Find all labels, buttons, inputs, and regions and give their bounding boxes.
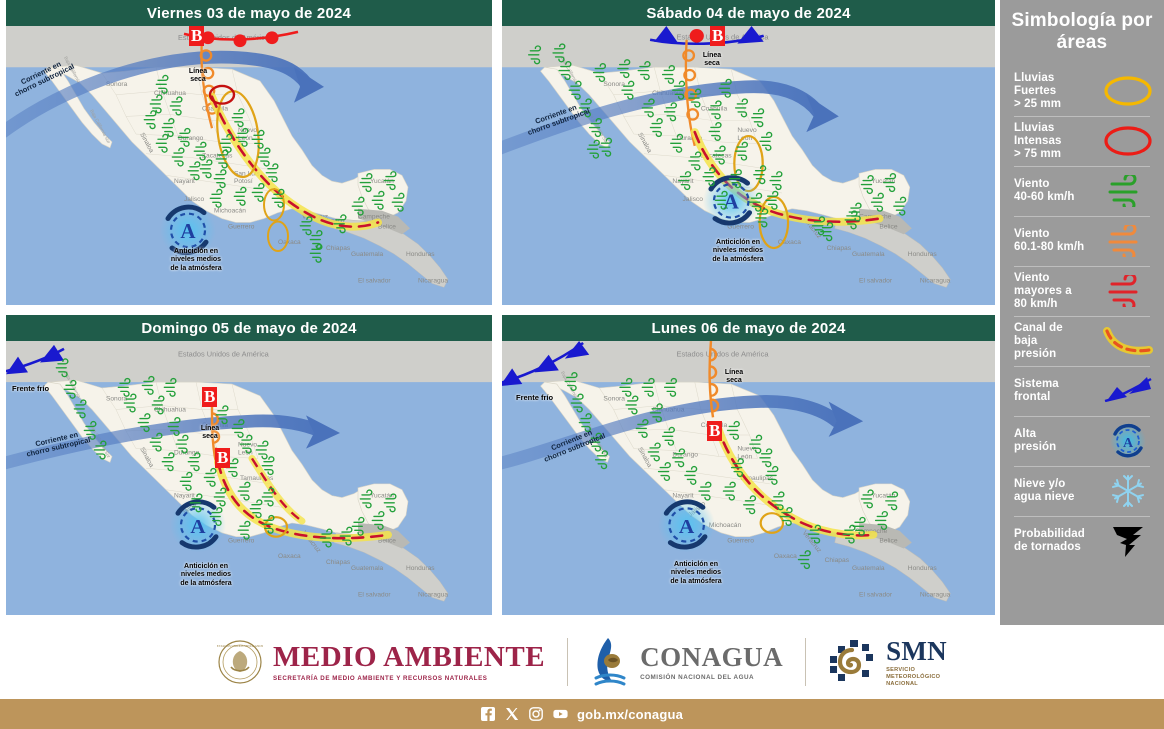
- panel-title-sabado: Sábado 04 de mayo de 2024: [502, 0, 995, 26]
- mexico-coat-of-arms-icon: ESTADOS UNIDOS MEXICANOS: [217, 639, 263, 685]
- logo-conagua: CONAGUA COMISIÓN NACIONAL DEL AGUA: [590, 636, 783, 688]
- svg-text:Honduras: Honduras: [908, 565, 938, 572]
- snowflake-icon: [1102, 471, 1154, 511]
- conagua-eagle-icon: [590, 636, 630, 688]
- smn-spiral-icon: [828, 638, 876, 686]
- medio-ambiente-name: MEDIO AMBIENTE: [273, 642, 545, 672]
- svg-text:Guerrero: Guerrero: [228, 538, 255, 545]
- mexico-map-svg: Estados Unidos de América Guatemala Hond…: [6, 26, 492, 305]
- svg-text:El salvador: El salvador: [859, 591, 893, 598]
- legend-item-lluvias-intensas[interactable]: Lluvias Intensas > 75 mm: [1000, 116, 1164, 166]
- svg-text:Guatemala: Guatemala: [852, 565, 885, 572]
- legend-sidebar: Simbología por áreas Lluvias Fuertes > 2…: [1000, 0, 1164, 625]
- svg-text:Sonora: Sonora: [603, 396, 625, 403]
- map-canvas-lunes[interactable]: Estados Unidos de América GuatemalaHondu…: [502, 341, 995, 615]
- legend-item-viento-60-80[interactable]: Viento 60.1-80 km/h: [1000, 216, 1164, 266]
- label-nayarit: Nayarit: [174, 178, 195, 185]
- panel-title-lunes: Lunes 06 de mayo de 2024: [502, 315, 995, 341]
- legend-label: Lluvias Fuertes > 25 mm: [1014, 72, 1061, 111]
- mexico-map-svg: Estados Unidos de América GuatemalaHondu…: [502, 341, 995, 615]
- svg-text:Sonora: Sonora: [106, 396, 128, 403]
- legend-label: Viento 60.1-80 km/h: [1014, 228, 1084, 254]
- forecast-panel-lunes[interactable]: Lunes 06 de mayo de 2024: [497, 315, 1000, 625]
- svg-text:El salvador: El salvador: [859, 277, 893, 284]
- frontal-system-icon: [1102, 371, 1154, 411]
- forecast-panel-sabado[interactable]: Sábado 04 de mayo de 2024: [497, 0, 1000, 315]
- facebook-icon[interactable]: [481, 707, 496, 722]
- label-oaxaca: Oaxaca: [278, 239, 301, 246]
- svg-text:Oaxaca: Oaxaca: [278, 553, 301, 560]
- label-jalisco: Jalisco: [184, 196, 205, 203]
- low-pressure-marker-B-north: B: [202, 387, 217, 407]
- smn-name: SMN: [886, 637, 947, 665]
- logo-medio-ambiente: ESTADOS UNIDOS MEXICANOS MEDIO AMBIENTE …: [217, 639, 545, 685]
- svg-text:A: A: [190, 515, 205, 538]
- forecast-map-grid: Viernes 03 de mayo de 2024: [0, 0, 1000, 625]
- map-canvas-viernes[interactable]: Estados Unidos de América Guatemala Hond…: [6, 26, 492, 305]
- svg-text:Belice: Belice: [879, 223, 898, 230]
- label-slp2: Potosí: [234, 178, 253, 185]
- legend-label: Viento 40-60 km/h: [1014, 178, 1074, 204]
- map-canvas-sabado[interactable]: Estados Unidos de América GuatemalaHondu…: [502, 26, 995, 305]
- heavy-rain-ellipse-3: [268, 221, 288, 250]
- map-canvas-domingo[interactable]: Estados Unidos de América GuatemalaHondu…: [6, 341, 492, 615]
- svg-text:Estados Unidos de América: Estados Unidos de América: [676, 350, 769, 359]
- wind-swirl-red-icon: [1102, 271, 1154, 311]
- label-michoacan: Michoacán: [214, 208, 246, 215]
- legend-item-list: Lluvias Fuertes > 25 mm Lluvias Intensas…: [1000, 66, 1164, 566]
- svg-text:A: A: [679, 514, 694, 538]
- bottom-social-bar: gob.mx/conagua: [0, 699, 1164, 729]
- legend-label: Nieve y/o agua nieve: [1014, 478, 1074, 504]
- label-guerrero: Guerrero: [228, 223, 255, 230]
- svg-text:Nuevo: Nuevo: [737, 127, 757, 134]
- legend-item-viento-mayores-80[interactable]: Viento mayores a 80 km/h: [1000, 266, 1164, 316]
- legend-item-lluvias-fuertes[interactable]: Lluvias Fuertes > 25 mm: [1000, 66, 1164, 116]
- rain-ellipse-red-icon: [1102, 121, 1154, 161]
- logo-divider-2: [805, 638, 806, 686]
- youtube-icon[interactable]: [553, 707, 568, 722]
- low-pressure-marker-B: B: [707, 421, 722, 441]
- legend-label: Viento mayores a 80 km/h: [1014, 272, 1072, 311]
- svg-text:Chiapas: Chiapas: [825, 557, 850, 564]
- instagram-icon[interactable]: [529, 707, 544, 722]
- mid-level-anticyclone: A: [658, 498, 715, 553]
- svg-text:A: A: [724, 190, 739, 214]
- svg-text:Nicaragua: Nicaragua: [920, 277, 951, 284]
- conagua-sub: COMISIÓN NACIONAL DEL AGUA: [640, 674, 783, 681]
- svg-text:Guerrero: Guerrero: [727, 538, 754, 545]
- legend-item-viento-40-60[interactable]: Viento 40-60 km/h: [1000, 166, 1164, 216]
- mexico-map-svg: Estados Unidos de América GuatemalaHondu…: [502, 26, 995, 305]
- svg-text:Oaxaca: Oaxaca: [774, 553, 797, 560]
- footer-logos: ESTADOS UNIDOS MEXICANOS MEDIO AMBIENTE …: [0, 625, 1164, 699]
- svg-text:Sonora: Sonora: [603, 81, 625, 88]
- legend-label: Canal de baja presión: [1014, 322, 1063, 361]
- svg-text:Honduras: Honduras: [908, 251, 938, 258]
- legend-item-nieve[interactable]: Nieve y/o agua nieve: [1000, 466, 1164, 516]
- svg-text:Chiapas: Chiapas: [326, 559, 351, 566]
- low-pressure-marker-B: B: [189, 26, 204, 46]
- conagua-name: CONAGUA: [640, 643, 783, 671]
- svg-text:El salvador: El salvador: [358, 591, 391, 598]
- forecast-panel-viernes[interactable]: Viernes 03 de mayo de 2024: [0, 0, 497, 315]
- svg-text:Yucatán: Yucatán: [871, 178, 895, 185]
- wind-swirl-orange-icon: [1102, 221, 1154, 261]
- website-url[interactable]: gob.mx/conagua: [577, 707, 683, 722]
- svg-text:Chiapas: Chiapas: [827, 245, 852, 252]
- svg-text:Estados Unidos de América: Estados Unidos de América: [178, 350, 270, 359]
- svg-text:Nicaragua: Nicaragua: [920, 591, 951, 598]
- label-chiapas: Chiapas: [326, 245, 351, 252]
- rain-ellipse-yellow-icon: [1102, 71, 1154, 111]
- label-guatemala: Guatemala: [351, 251, 384, 258]
- high-pressure-icon: A: [1102, 421, 1154, 461]
- svg-text:Nuevo: Nuevo: [737, 446, 757, 453]
- medio-ambiente-sub: SECRETARÍA DE MEDIO AMBIENTE Y RECURSOS …: [273, 675, 545, 682]
- label-elsalvador: El salvador: [358, 277, 391, 284]
- legend-item-alta-presion[interactable]: Alta presión A: [1000, 416, 1164, 466]
- svg-text:Nicaragua: Nicaragua: [418, 591, 448, 598]
- low-pressure-trough-icon: [1102, 321, 1154, 361]
- logo-smn: SMN SERVICIO METEOROLÓGICO NACIONAL: [828, 637, 947, 688]
- legend-title: Simbología por áreas: [1000, 8, 1164, 54]
- low-pressure-marker-B: B: [710, 26, 725, 46]
- logo-divider-1: [567, 638, 568, 686]
- svg-text:Honduras: Honduras: [406, 565, 435, 572]
- svg-text:Guatemala: Guatemala: [852, 251, 885, 258]
- forecast-panel-domingo[interactable]: Domingo 05 de mayo de 2024: [0, 315, 497, 625]
- tornado-icon: [1102, 521, 1154, 561]
- label-honduras: Honduras: [406, 251, 435, 258]
- low-pressure-marker-B-south: B: [215, 448, 230, 468]
- svg-text:A: A: [180, 219, 195, 243]
- legend-label: Lluvias Intensas > 75 mm: [1014, 122, 1061, 161]
- legend-label: Alta presión: [1014, 428, 1056, 454]
- svg-text:Jalisco: Jalisco: [683, 196, 704, 203]
- label-nicaragua: Nicaragua: [418, 277, 448, 284]
- legend-item-sistema-frontal[interactable]: Sistema frontal: [1000, 366, 1164, 416]
- legend-label: Sistema frontal: [1014, 378, 1059, 404]
- mid-level-anticyclone: A: [703, 173, 760, 228]
- mid-level-anticyclone: A: [160, 203, 216, 258]
- svg-text:ESTADOS UNIDOS MEXICANOS: ESTADOS UNIDOS MEXICANOS: [217, 644, 263, 648]
- panel-title-viernes: Viernes 03 de mayo de 2024: [6, 0, 492, 26]
- svg-text:Guatemala: Guatemala: [351, 565, 384, 572]
- smn-sub: SERVICIO METEOROLÓGICO NACIONAL: [886, 667, 947, 688]
- legend-item-canal-baja-presion[interactable]: Canal de baja presión: [1000, 316, 1164, 366]
- legend-item-tornados[interactable]: Probabilidad de tornados: [1000, 516, 1164, 566]
- x-twitter-icon[interactable]: [505, 707, 520, 722]
- wind-swirl-green-icon: [1102, 171, 1154, 211]
- panel-title-domingo: Domingo 05 de mayo de 2024: [6, 315, 492, 341]
- mexico-map-svg: Estados Unidos de América GuatemalaHondu…: [6, 341, 492, 615]
- svg-text:A: A: [1123, 436, 1134, 451]
- svg-text:Belice: Belice: [879, 538, 898, 545]
- svg-text:Coahuila: Coahuila: [701, 106, 728, 113]
- legend-label: Probabilidad de tornados: [1014, 528, 1085, 554]
- weather-forecast-page: Viernes 03 de mayo de 2024: [0, 0, 1164, 729]
